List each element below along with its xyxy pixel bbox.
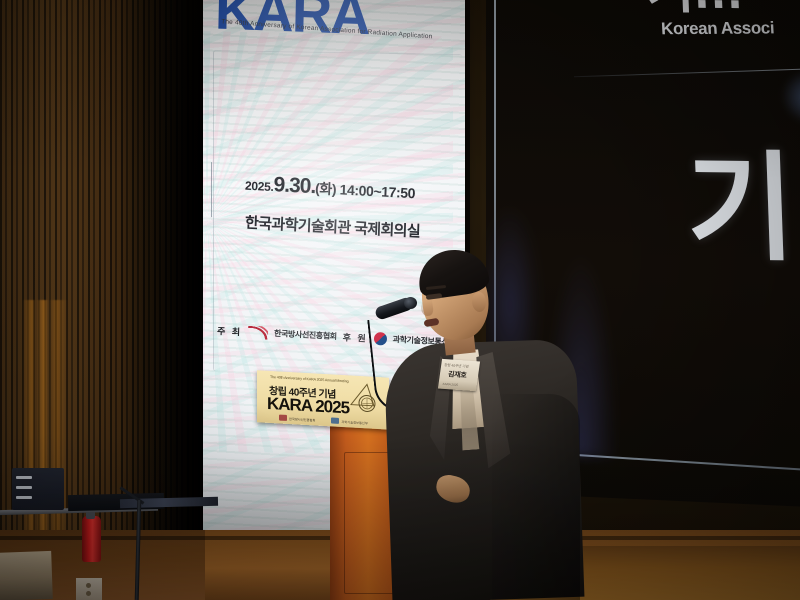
podium-sponsor-1: 한국방사선진흥협회 [279, 415, 315, 423]
outlet-port [86, 591, 91, 596]
podium-sponsor-logos: 한국방사선진흥협회 과학기술정보통신부 [279, 415, 368, 426]
podium-sponsor-2: 과학기술정보통신부 [331, 417, 367, 425]
case-slot [16, 486, 32, 489]
badge-header: 창립 40주년 기념 [444, 362, 469, 369]
podium-sponsor-2-text: 과학기술정보통신부 [341, 419, 367, 425]
case-slot [16, 496, 32, 499]
right-screen-subtitle: Korean Associ [661, 18, 775, 39]
podium-banner-sign: The 40th Anniversary of KARA 2025 Annual… [257, 370, 389, 429]
event-year: 2025. [245, 179, 274, 194]
right-screen-big-character: 기 [683, 111, 793, 283]
conference-stage-photo: KARA The 40th Anniversary of Korean Asso… [0, 0, 800, 600]
outlet-port [86, 583, 91, 588]
av-equipment-case [12, 468, 64, 510]
podium-sponsor-1-text: 한국방사선진흥협회 [289, 416, 315, 422]
cardboard-box [0, 551, 53, 600]
case-slot [16, 476, 32, 479]
badge-footer: KARA 2025 [442, 382, 458, 387]
speaker-person: 창립 40주년 기념 김재호 KARA 2025 [392, 244, 582, 600]
name-badge: 창립 40주년 기념 김재호 KARA 2025 [438, 359, 480, 391]
event-time: (화) 14:00~17:50 [315, 180, 415, 201]
badge-name: 김재호 [447, 369, 467, 380]
support-role-label: 후 원 [342, 330, 368, 344]
sponsor-mark-icon [331, 417, 339, 423]
slide-tick-mark [211, 162, 212, 217]
host-role-label: 주 최 [217, 324, 243, 338]
kara-swoosh-icon [248, 326, 268, 340]
wall-outlet-plate [76, 578, 102, 600]
right-screen-rule [574, 67, 800, 77]
arm-shadow [492, 394, 580, 600]
event-day: 9.30. [273, 173, 315, 198]
sponsor-mark-icon [279, 415, 287, 421]
fire-extinguisher-icon [82, 516, 101, 562]
nose [420, 299, 434, 317]
host-org-name: 한국방사선진흥협회 [274, 328, 337, 342]
